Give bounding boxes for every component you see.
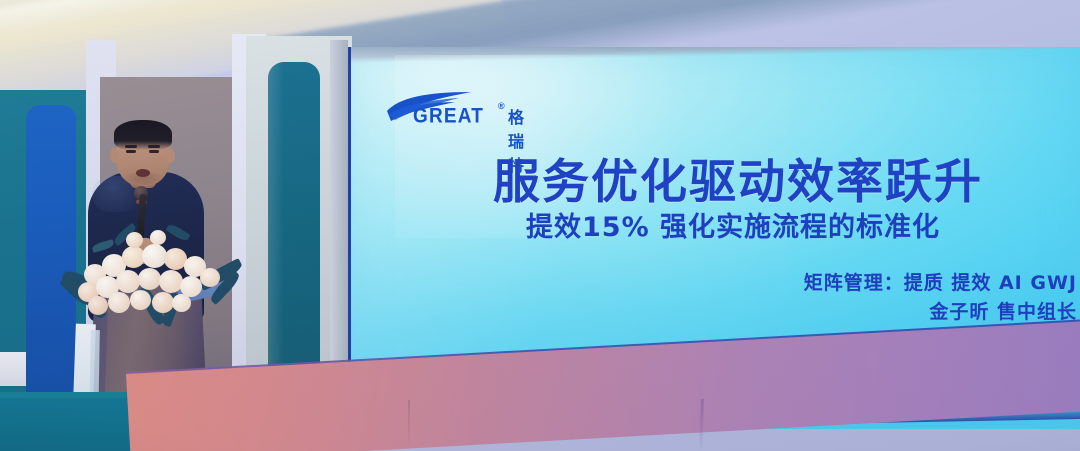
- flower-arrangement: [58, 224, 248, 328]
- presenter-eye-left: [126, 150, 136, 153]
- foreground-object: [0, 352, 26, 386]
- pillar-highlight: [268, 62, 284, 402]
- presenter-mouth: [136, 169, 150, 177]
- slide-meta-line-1: 矩阵管理：提质 提效 AI GWJ: [804, 269, 1077, 298]
- screen-top-bevel: [351, 47, 1080, 63]
- presenter-ear-right: [166, 148, 175, 163]
- presenter-hair: [114, 120, 172, 150]
- logo-latin-text: GREAT: [413, 106, 484, 127]
- slide-subtitle: 提效15% 强化实施流程的标准化: [526, 205, 940, 244]
- conference-photo: GREAT ® 格瑞特 服务优化驱动效率跃升 提效15% 强化实施流程的标准化 …: [0, 0, 1080, 451]
- stage-floor-seam-2: [408, 400, 410, 451]
- presenter-brow-right: [148, 145, 160, 148]
- presenter-ear-left: [110, 148, 119, 163]
- presenter-brow-left: [125, 145, 137, 148]
- presenter-eye-right: [149, 150, 159, 153]
- logo-registered-mark: ®: [498, 101, 505, 111]
- brand-logo: GREAT ® 格瑞特: [385, 91, 477, 125]
- slide-title: 服务优化驱动效率跃升: [493, 143, 983, 212]
